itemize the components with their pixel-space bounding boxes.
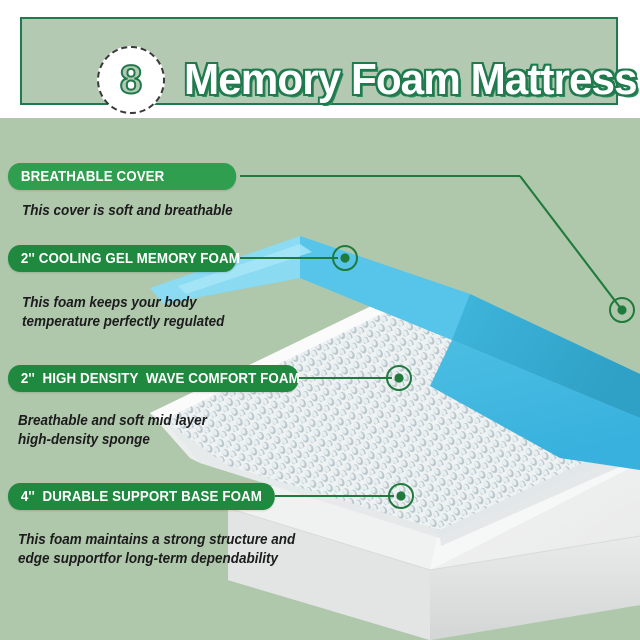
callout-desc-high-density-wave-comfort-foam: Breathable and soft mid layer high-densi… (18, 412, 297, 450)
step-number-text: 8 (99, 48, 163, 112)
callout-label-durable-support-base-foam[interactable]: 4'' DURABLE SUPPORT BASE FOAM (8, 483, 275, 510)
infographic-canvas: 8 Memory Foam Mattress (0, 0, 640, 640)
callout-label-cooling-gel-memory-foam[interactable]: 2'' COOLING GEL MEMORY FOAM (8, 245, 236, 272)
header-box: 8 Memory Foam Mattress (20, 17, 618, 105)
callout-label-high-density-wave-comfort-foam[interactable]: 2'' HIGH DENSITY WAVE COMFORT FOAM (8, 365, 299, 392)
connector-cover-diagonal (520, 176, 622, 310)
callout-label-breathable-cover[interactable]: BREATHABLE COVER (8, 163, 236, 190)
step-number-badge: 8 (97, 46, 165, 114)
callout-desc-cooling-gel-memory-foam: This foam keeps your body temperature pe… (22, 294, 292, 332)
callout-desc-durable-support-base-foam: This foam maintains a strong structure a… (18, 531, 325, 569)
marker-breathable-cover (610, 298, 634, 322)
page-title: Memory Foam Mattress (184, 43, 606, 117)
callout-desc-breathable-cover: This cover is soft and breathable (22, 202, 282, 221)
